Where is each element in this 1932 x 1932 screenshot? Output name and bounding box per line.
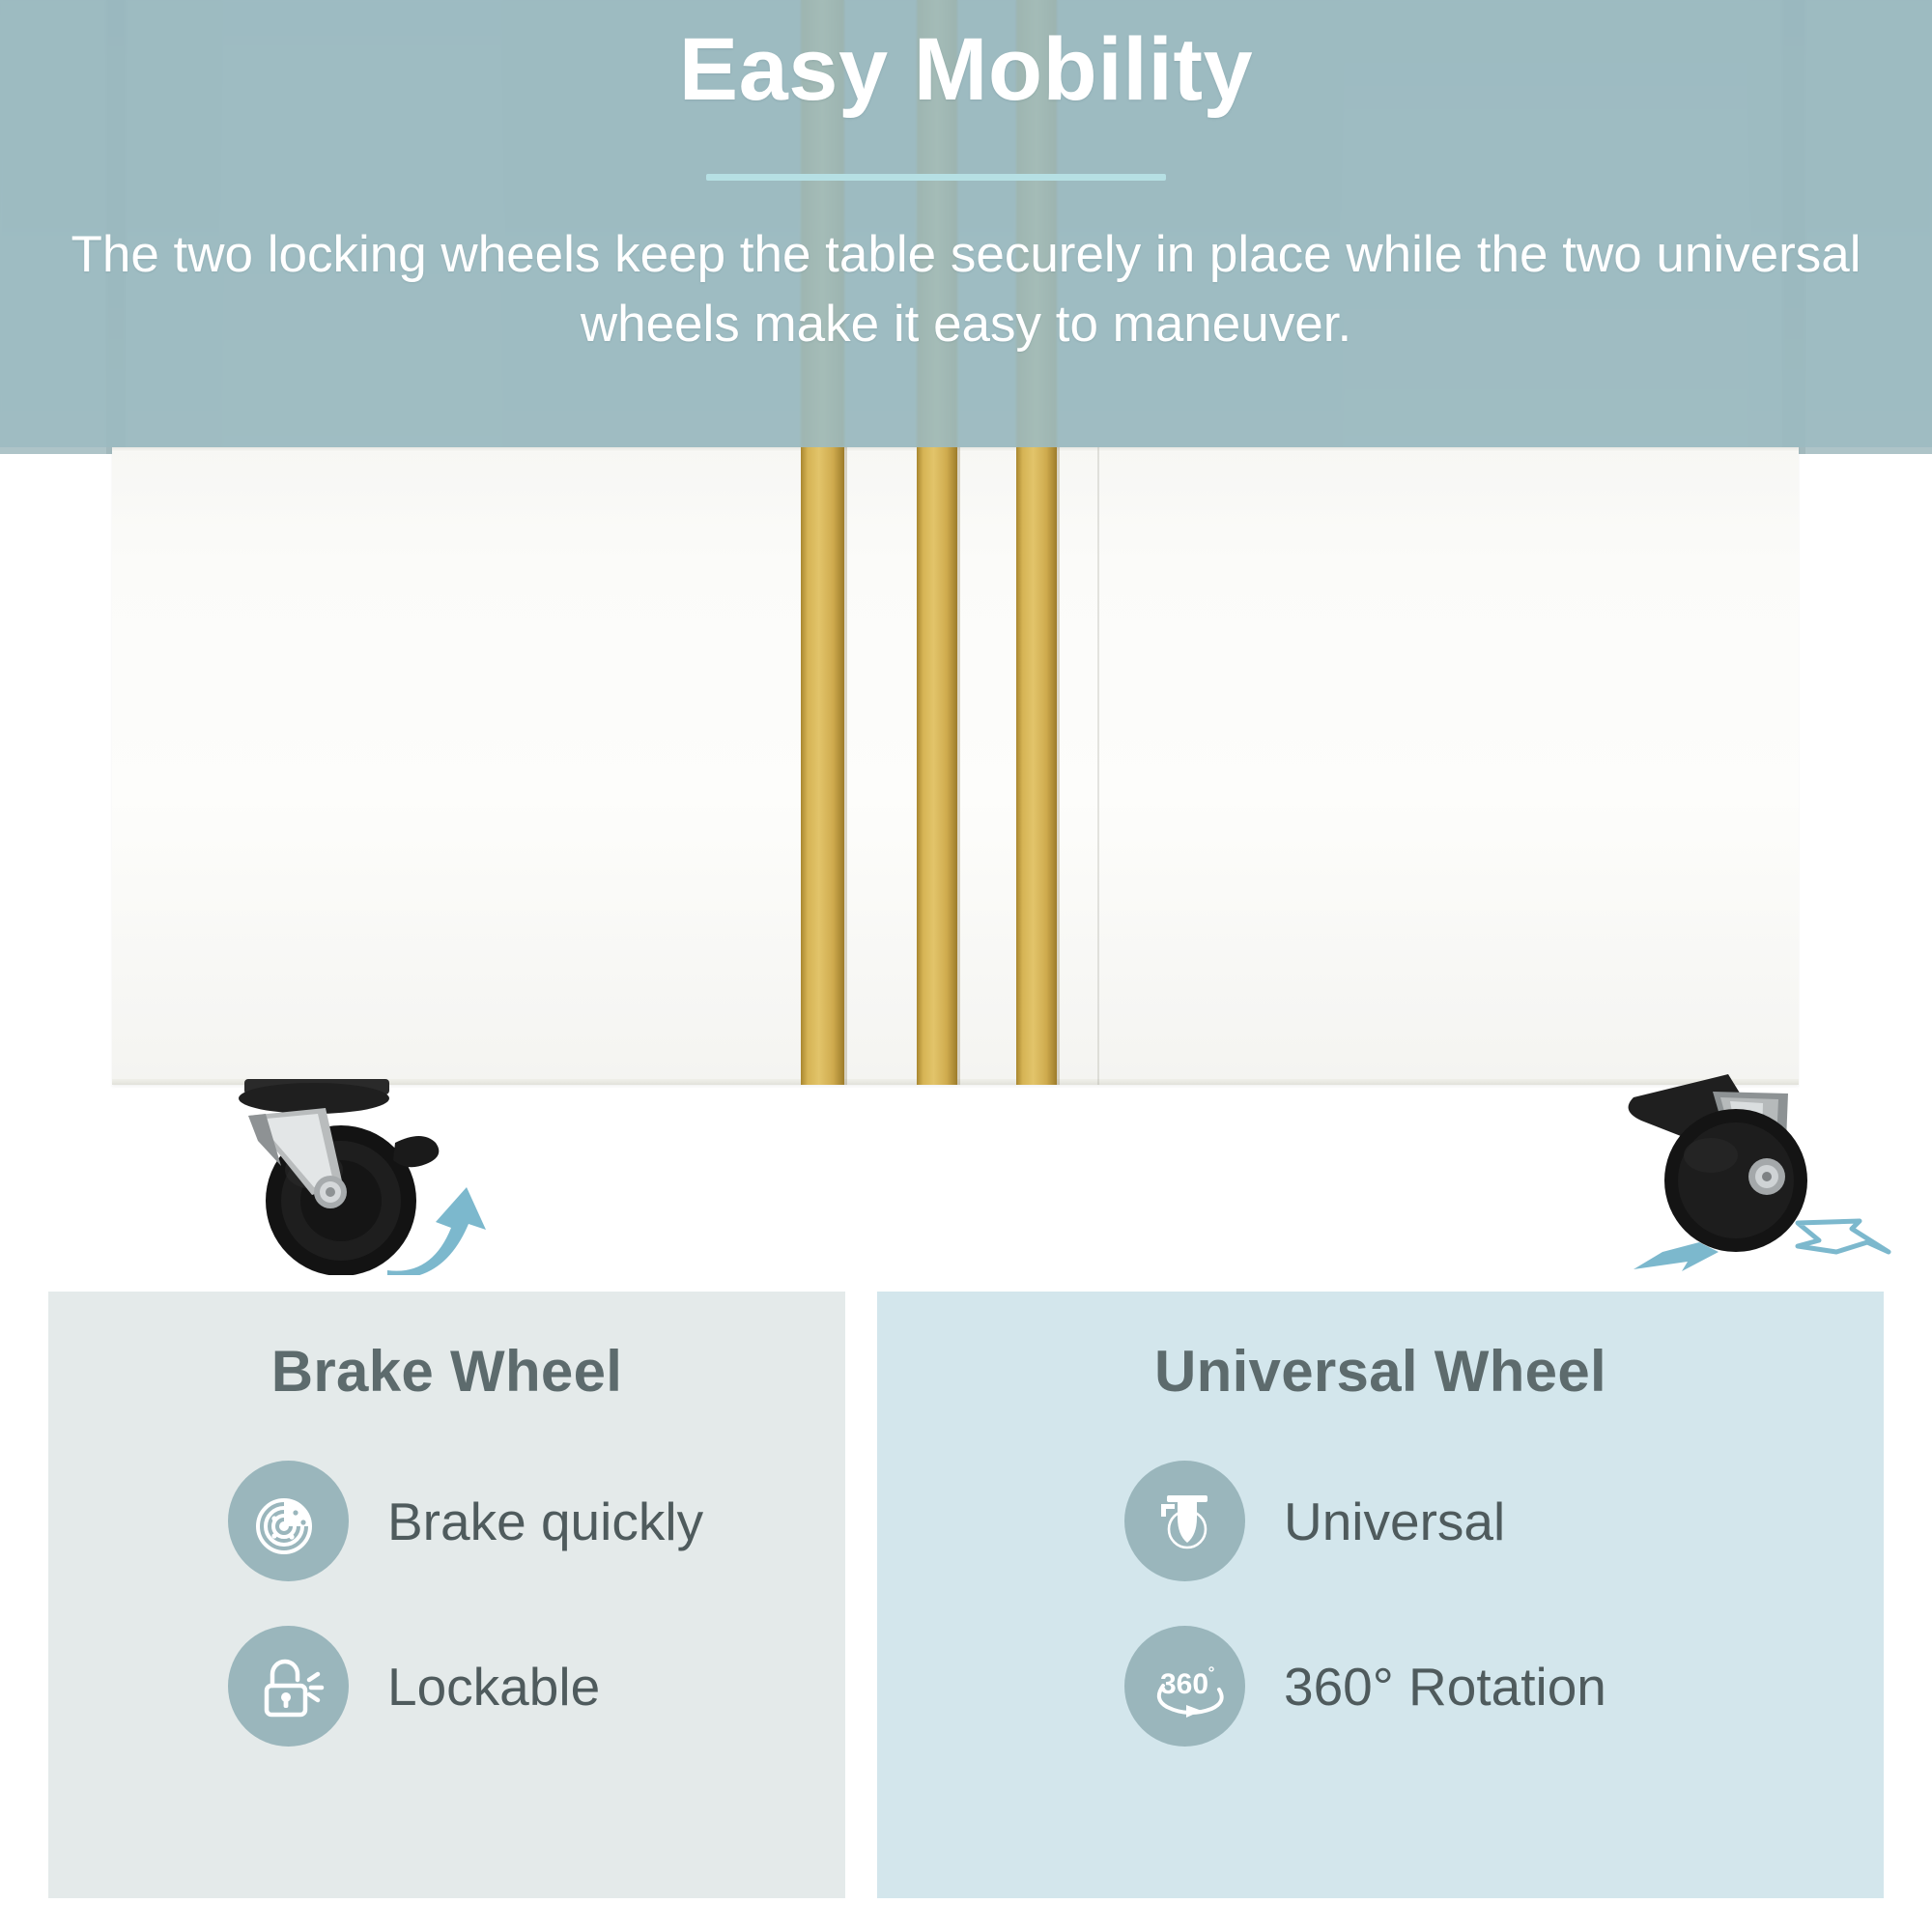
header-banner: Easy Mobility The two locking wheels kee… xyxy=(0,0,1932,447)
card-brake-features: Brake quickly xyxy=(48,1461,845,1747)
card-brake-wheel: Brake Wheel xyxy=(48,1292,845,1898)
product-infographic: Easy Mobility The two locking wheels kee… xyxy=(0,0,1932,1932)
gold-stripe xyxy=(1016,447,1057,1085)
unlocked-padlock-icon xyxy=(228,1626,349,1747)
feature-label-360-rotation: 360° Rotation xyxy=(1284,1656,1606,1718)
card-title-brake: Brake Wheel xyxy=(48,1338,845,1405)
360-rotation-icon: 360 ° xyxy=(1124,1626,1245,1747)
feature-label-universal: Universal xyxy=(1284,1491,1505,1552)
cabinet-body xyxy=(112,447,1799,1085)
page-subtitle: The two locking wheels keep the table se… xyxy=(0,220,1932,358)
svg-text:360: 360 xyxy=(1159,1668,1207,1700)
gold-stripe xyxy=(801,447,844,1085)
feature-label-lockable: Lockable xyxy=(387,1656,600,1718)
universal-caster-wheel xyxy=(1599,1063,1932,1275)
feature-row-lockable: Lockable xyxy=(48,1626,845,1747)
feature-row-360-rotation: 360 ° 360° Rotation xyxy=(877,1626,1884,1747)
feature-label-brake-quickly: Brake quickly xyxy=(387,1491,703,1552)
feature-row-universal: Universal xyxy=(877,1461,1884,1581)
svg-text:°: ° xyxy=(1207,1663,1214,1682)
caster-wheel-icon xyxy=(1124,1461,1245,1581)
product-photo: Easy Mobility The two locking wheels kee… xyxy=(0,0,1932,1275)
card-universal-features: Universal 360 ° 360° Rota xyxy=(877,1461,1884,1747)
feature-row-brake-quickly: Brake quickly xyxy=(48,1461,845,1581)
brake-disc-icon xyxy=(228,1461,349,1581)
title-divider xyxy=(706,174,1166,181)
card-universal-wheel: Universal Wheel Universal xyxy=(877,1292,1884,1898)
page-title: Easy Mobility xyxy=(0,19,1932,122)
feature-cards: Brake Wheel xyxy=(0,1292,1932,1898)
brake-caster-wheel xyxy=(198,1077,497,1275)
gold-stripe xyxy=(917,447,957,1085)
cabinet-seam xyxy=(1097,447,1099,1085)
card-title-universal: Universal Wheel xyxy=(877,1338,1884,1405)
